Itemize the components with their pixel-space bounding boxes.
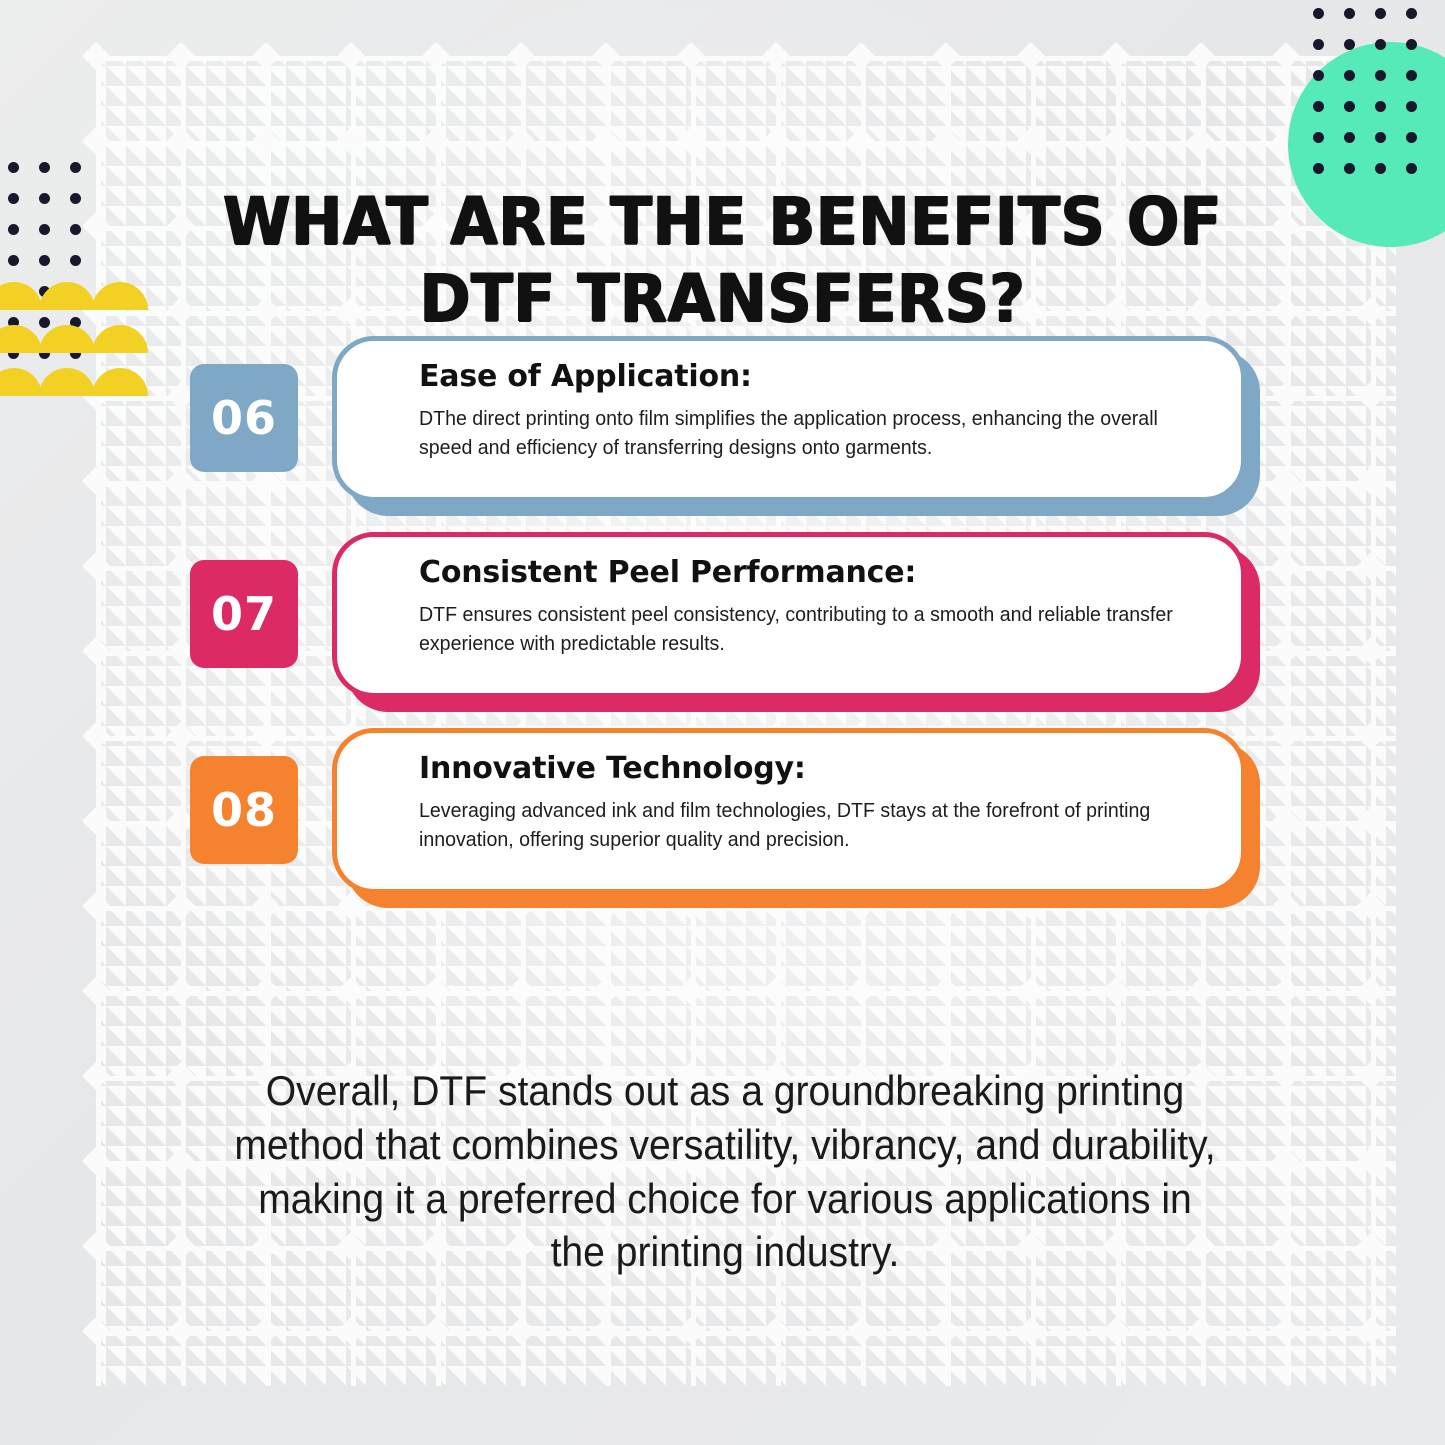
grid-diamond — [337, 42, 365, 70]
grid-diamond — [167, 297, 195, 325]
dot — [1344, 132, 1355, 143]
dot — [1406, 8, 1417, 19]
grid-diamond — [167, 977, 195, 1005]
benefit-card-list: 06Ease of Application:DThe direct printi… — [0, 336, 1445, 924]
dot — [1375, 163, 1386, 174]
grid-diamond — [422, 1317, 450, 1345]
grid-diamond — [1187, 127, 1215, 155]
dot — [1313, 163, 1324, 174]
grid-diamond — [1102, 42, 1130, 70]
card-title: Innovative Technology: — [419, 751, 1207, 786]
grid-diamond — [422, 127, 450, 155]
card-body-text: Leveraging advanced ink and film technol… — [419, 796, 1202, 854]
benefit-card[interactable]: 07Consistent Peel Performance:DTF ensure… — [0, 532, 1445, 728]
grid-diamond — [82, 42, 110, 70]
grid-diamond — [252, 127, 280, 155]
page-title: WHAT ARE THE BENEFITS OF DTF TRANSFERS? — [199, 184, 1245, 337]
grid-diamond — [847, 42, 875, 70]
grid-diamond — [1272, 1232, 1300, 1260]
dot — [1313, 132, 1324, 143]
dot — [39, 162, 50, 173]
grid-diamond — [167, 42, 195, 70]
dot — [1375, 39, 1386, 50]
grid-diamond — [1187, 1317, 1215, 1345]
grid-diamond — [337, 127, 365, 155]
dot — [1313, 70, 1324, 81]
card-shell: Ease of Application:DThe direct printing… — [332, 336, 1246, 502]
grid-diamond — [1017, 42, 1045, 70]
grid-diamond — [1357, 1147, 1385, 1175]
card-number-badge: 07 — [190, 560, 298, 668]
grid-diamond — [932, 1317, 960, 1345]
benefit-card[interactable]: 08Innovative Technology:Leveraging advan… — [0, 728, 1445, 924]
dot — [1406, 163, 1417, 174]
dot — [8, 224, 19, 235]
dot — [1375, 101, 1386, 112]
grid-diamond — [1272, 212, 1300, 240]
dot — [1344, 8, 1355, 19]
grid-diamond — [1017, 127, 1045, 155]
dot — [1406, 101, 1417, 112]
grid-diamond — [82, 1147, 110, 1175]
grid-diamond — [762, 127, 790, 155]
dot — [1406, 39, 1417, 50]
grid-diamond — [932, 127, 960, 155]
dot — [1344, 70, 1355, 81]
grid-diamond — [252, 42, 280, 70]
dot — [1375, 70, 1386, 81]
grid-diamond — [1357, 297, 1385, 325]
grid-diamond — [1272, 977, 1300, 1005]
grid-diamond — [167, 1062, 195, 1090]
grid-diamond — [677, 1317, 705, 1345]
grid-diamond — [507, 127, 535, 155]
grid-diamond — [1272, 1317, 1300, 1345]
grid-diamond — [252, 977, 280, 1005]
grid-diamond — [592, 127, 620, 155]
grid-diamond — [1187, 977, 1215, 1005]
grid-diamond — [167, 1317, 195, 1345]
grid-diamond — [1272, 42, 1300, 70]
dot — [70, 224, 81, 235]
grid-diamond — [932, 42, 960, 70]
dot — [1375, 132, 1386, 143]
grid-diamond — [82, 1317, 110, 1345]
card-number-badge: 08 — [190, 756, 298, 864]
dot — [1313, 8, 1324, 19]
grid-diamond — [422, 42, 450, 70]
dot — [8, 255, 19, 266]
arch-shape — [92, 282, 148, 310]
dot — [70, 193, 81, 204]
benefit-card[interactable]: 06Ease of Application:DThe direct printi… — [0, 336, 1445, 532]
grid-diamond — [762, 977, 790, 1005]
dot — [39, 193, 50, 204]
dot-grid-top-right-icon — [1313, 8, 1433, 188]
dot — [39, 317, 50, 328]
grid-diamond — [82, 1232, 110, 1260]
grid-diamond — [507, 1317, 535, 1345]
grid-diamond — [677, 977, 705, 1005]
grid-diamond — [677, 127, 705, 155]
grid-diamond — [82, 977, 110, 1005]
card-face: Ease of Application:DThe direct printing… — [332, 336, 1246, 502]
grid-diamond — [507, 42, 535, 70]
grid-diamond — [1357, 1062, 1385, 1090]
grid-diamond — [677, 42, 705, 70]
grid-diamond — [252, 1317, 280, 1345]
grid-diamond — [1187, 42, 1215, 70]
grid-diamond — [592, 42, 620, 70]
grid-diamond — [762, 1317, 790, 1345]
grid-diamond — [1017, 977, 1045, 1005]
card-body-text: DTF ensures consistent peel consistency,… — [419, 600, 1202, 658]
card-body-text: DThe direct printing onto film simplifie… — [419, 404, 1202, 462]
grid-diamond — [167, 1147, 195, 1175]
grid-diamond — [82, 127, 110, 155]
grid-diamond — [1102, 127, 1130, 155]
grid-diamond — [592, 977, 620, 1005]
dot — [1344, 163, 1355, 174]
dot — [1375, 8, 1386, 19]
grid-diamond — [1272, 1147, 1300, 1175]
dot — [1344, 101, 1355, 112]
dot — [1313, 39, 1324, 50]
grid-diamond — [1272, 1062, 1300, 1090]
card-face: Consistent Peel Performance:DTF ensures … — [332, 532, 1246, 698]
grid-diamond — [847, 977, 875, 1005]
grid-diamond — [82, 1062, 110, 1090]
grid-diamond — [847, 127, 875, 155]
grid-diamond — [1272, 297, 1300, 325]
grid-diamond — [1102, 1317, 1130, 1345]
dot — [1406, 132, 1417, 143]
grid-diamond — [1357, 1317, 1385, 1345]
grid-diamond — [1357, 977, 1385, 1005]
dot — [39, 255, 50, 266]
grid-diamond — [762, 42, 790, 70]
dot — [70, 162, 81, 173]
dot — [8, 193, 19, 204]
infographic-poster: WHAT ARE THE BENEFITS OF DTF TRANSFERS? … — [0, 0, 1445, 1445]
card-face: Innovative Technology:Leveraging advance… — [332, 728, 1246, 894]
card-shell: Consistent Peel Performance:DTF ensures … — [332, 532, 1246, 698]
grid-diamond — [1102, 977, 1130, 1005]
card-title: Ease of Application: — [419, 359, 1207, 394]
grid-diamond — [337, 977, 365, 1005]
grid-diamond — [932, 977, 960, 1005]
grid-diamond — [167, 212, 195, 240]
dot — [1406, 70, 1417, 81]
summary-paragraph: Overall, DTF stands out as a groundbreak… — [227, 1064, 1222, 1279]
card-number-badge: 06 — [190, 364, 298, 472]
dot — [8, 162, 19, 173]
grid-diamond — [167, 1232, 195, 1260]
card-shell: Innovative Technology:Leveraging advance… — [332, 728, 1246, 894]
card-title: Consistent Peel Performance: — [419, 555, 1207, 590]
grid-diamond — [1017, 1317, 1045, 1345]
dot — [70, 255, 81, 266]
grid-diamond — [847, 1317, 875, 1345]
dot — [1344, 39, 1355, 50]
grid-diamond — [507, 977, 535, 1005]
grid-diamond — [422, 977, 450, 1005]
grid-diamond — [1357, 1232, 1385, 1260]
grid-diamond — [167, 127, 195, 155]
dot — [1313, 101, 1324, 112]
grid-diamond — [337, 1317, 365, 1345]
grid-diamond — [592, 1317, 620, 1345]
dot — [39, 224, 50, 235]
